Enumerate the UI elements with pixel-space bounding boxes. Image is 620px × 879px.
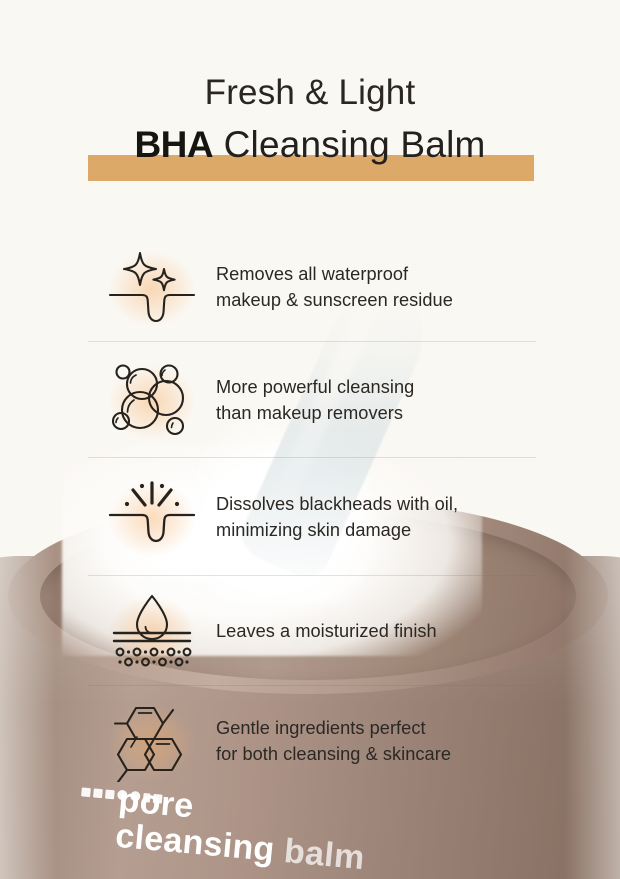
feature-text-line: minimizing skin damage xyxy=(216,517,458,543)
pore-sparkle-icon xyxy=(88,243,216,331)
feature-row: More powerful cleansing than makeup remo… xyxy=(0,342,620,458)
droplet-hydration-icon xyxy=(88,587,216,675)
brandmark-shape xyxy=(81,787,91,797)
feature-text: Dissolves blackheads with oil, minimizin… xyxy=(216,491,458,543)
feature-text-line: Dissolves blackheads with oil, xyxy=(216,491,458,517)
feature-text-line: Removes all waterproof xyxy=(216,261,453,287)
feature-list: Removes all waterproof makeup & sunscree… xyxy=(0,232,620,796)
feature-text-line: makeup & sunscreen residue xyxy=(216,287,453,313)
bha-badge: BHA xyxy=(134,124,213,165)
pore-burst-icon xyxy=(88,473,216,561)
feature-row: Leaves a moisturized finish xyxy=(0,576,620,686)
feature-row: Gentle ingredients perfect for both clea… xyxy=(0,686,620,796)
header: Fresh & Light BHA Cleansing Balm xyxy=(0,74,620,181)
product-name-balm: balm xyxy=(283,832,367,877)
bubbles-icon xyxy=(88,356,216,444)
feature-row: Dissolves blackheads with oil, minimizin… xyxy=(0,458,620,576)
feature-text-line: More powerful cleansing xyxy=(216,374,414,400)
feature-text: Removes all waterproof makeup & sunscree… xyxy=(216,261,453,313)
feature-text-line: Leaves a moisturized finish xyxy=(216,618,437,644)
feature-text: Leaves a moisturized finish xyxy=(216,618,437,644)
brandmark-shape xyxy=(105,789,115,799)
title-line-2-wrapper: BHA Cleansing Balm xyxy=(0,125,620,181)
feature-text-line: for both cleansing & skincare xyxy=(216,741,451,767)
feature-text-line: than makeup removers xyxy=(216,400,414,426)
feature-row: Removes all waterproof makeup & sunscree… xyxy=(0,232,620,342)
title-line-2: BHA Cleansing Balm xyxy=(0,125,620,166)
brandmark-shape xyxy=(93,788,103,798)
molecule-hexagon-icon xyxy=(88,697,216,785)
title-line-2-rest: Cleansing Balm xyxy=(213,124,485,165)
title-line-1: Fresh & Light xyxy=(0,74,620,113)
feature-text: More powerful cleansing than makeup remo… xyxy=(216,374,414,426)
product-infographic: Fresh & Light BHA Cleansing Balm Removes… xyxy=(0,0,620,879)
feature-text-line: Gentle ingredients perfect xyxy=(216,715,451,741)
feature-text: Gentle ingredients perfect for both clea… xyxy=(216,715,451,767)
